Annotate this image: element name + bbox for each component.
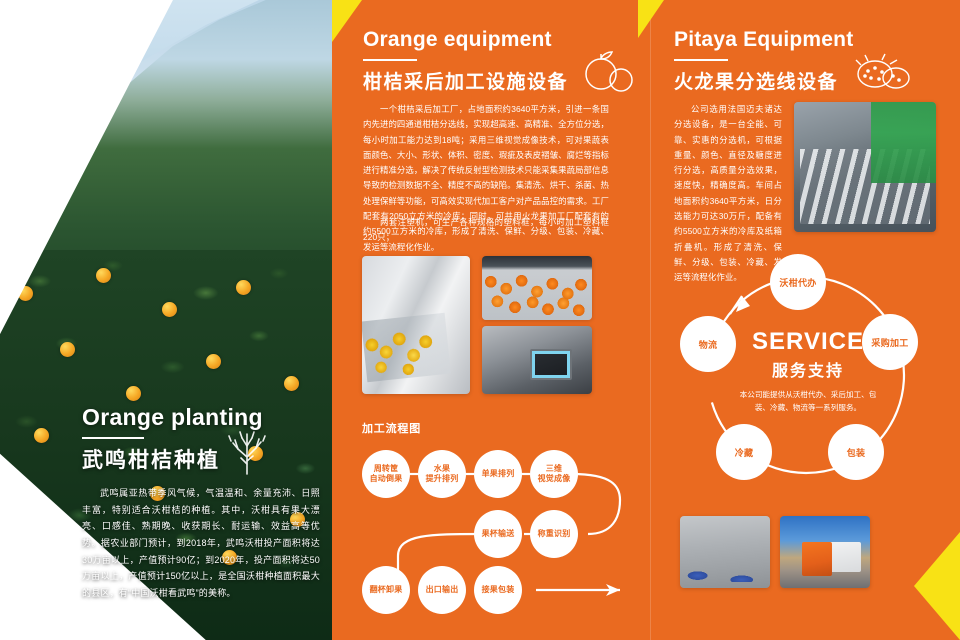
flow-node-2-line-1: 水果: [426, 464, 459, 474]
service-wheel-center: SERVICE 服务支持 本公司能提供从沃柑代办、采后加工、包装、冷藏、物流等一…: [738, 328, 878, 415]
pitaya-fruit-icon: [852, 52, 914, 94]
flow-node-7-line-1: 翻杯卸果: [370, 585, 403, 595]
service-node-worgan-label: 沃柑代办: [779, 276, 816, 289]
photo-control-station: [482, 326, 592, 394]
service-node-logistics-label: 物流: [699, 338, 718, 351]
service-body: 本公司能提供从沃柑代办、采后加工、包装、冷藏、物流等一系列服务。: [738, 388, 878, 415]
photo-cold-storage: [680, 516, 770, 588]
pitaya-equipment-rule: [674, 59, 728, 61]
orange-equipment-rule: [363, 59, 417, 61]
left-panel-text: Orange planting 武鸣柑桔种植 武鸣属亚热带季风气候，气温温和、余…: [82, 404, 320, 601]
left-panel-cn-title: 武鸣柑桔种植: [82, 444, 320, 474]
pitaya-equipment-cn-title: 火龙果分选线设备: [674, 67, 853, 94]
pitaya-equipment-en-title: Pitaya Equipment: [674, 28, 853, 52]
flow-node-5-line-1: 称重识别: [538, 529, 571, 539]
left-panel-en-title: Orange planting: [82, 404, 320, 431]
photo-pitaya-sorting-line: [794, 102, 936, 232]
service-node-refrigeration-label: 冷藏: [735, 446, 754, 459]
service-node-worgan[interactable]: 沃柑代办: [770, 254, 826, 310]
flow-node-1-line-1: 周转筐: [370, 464, 403, 474]
flow-node-4[interactable]: 三维 视觉成像: [530, 450, 578, 498]
flow-node-8[interactable]: 出口输出: [418, 566, 466, 614]
flow-node-2[interactable]: 水果 提升排列: [418, 450, 466, 498]
flow-node-1[interactable]: 周转筐 自动倒果: [362, 450, 410, 498]
flow-node-4-line-1: 三维: [538, 464, 571, 474]
flow-node-2-line-2: 提升排列: [426, 474, 459, 484]
orange-equipment-heading: Orange equipment 柑桔采后加工设施设备: [363, 28, 568, 94]
flow-node-1-line-2: 自动倒果: [370, 474, 403, 484]
flow-node-8-line-1: 出口输出: [426, 585, 459, 595]
orange-equipment-en-title: Orange equipment: [363, 28, 568, 52]
flow-node-3[interactable]: 单果排列: [474, 450, 522, 498]
brochure-page: Orange planting 武鸣柑桔种植 武鸣属亚热带季风气候，气温温和、余…: [0, 0, 960, 640]
service-node-packaging[interactable]: 包装: [828, 424, 884, 480]
flow-node-9[interactable]: 接果包装: [474, 566, 522, 614]
left-panel-body: 武鸣属亚热带季风气候，气温温和、余量充沛、日照丰富，特别适合沃柑桔的种植。其中，…: [82, 485, 320, 601]
flow-node-3-line-1: 单果排列: [482, 469, 515, 479]
flow-node-5[interactable]: 称重识别: [530, 510, 578, 558]
service-cn-title: 服务支持: [738, 357, 878, 381]
column-divider: [650, 0, 651, 640]
orange-equipment-cn-title: 柑桔采后加工设施设备: [363, 67, 568, 94]
pitaya-equipment-heading: Pitaya Equipment 火龙果分选线设备: [674, 28, 853, 94]
service-node-logistics[interactable]: 物流: [680, 316, 736, 372]
left-photo-panel: Orange planting 武鸣柑桔种植 武鸣属亚热带季风气候，气温温和、余…: [0, 0, 332, 640]
flow-node-6[interactable]: 果杯输送: [474, 510, 522, 558]
photo-sorting-machine: [362, 256, 470, 394]
flow-node-6-line-1: 果杯输送: [482, 529, 515, 539]
service-wheel: 沃柑代办 采购加工 包装 冷藏 物流 SERVICE 服务支持 本公司能提供从沃…: [666, 256, 946, 494]
service-node-packaging-label: 包装: [847, 446, 866, 459]
service-en-title: SERVICE: [738, 328, 878, 356]
left-panel-rule: [82, 437, 144, 439]
service-node-refrigeration[interactable]: 冷藏: [716, 424, 772, 480]
orange-fruit-icon: [580, 50, 638, 94]
flow-node-7[interactable]: 翻杯卸果: [362, 566, 410, 614]
flow-node-9-line-1: 接果包装: [482, 585, 515, 595]
photo-orange-conveyor: [482, 256, 592, 320]
flowchart-title: 加工流程图: [362, 420, 421, 436]
flow-node-4-line-2: 视觉成像: [538, 474, 571, 484]
orange-equipment-body-2: 两套注塑机，可生产各种规格的塑料框，每小时加工塑料框220只；: [363, 215, 609, 246]
photo-delivery-truck: [780, 516, 870, 588]
